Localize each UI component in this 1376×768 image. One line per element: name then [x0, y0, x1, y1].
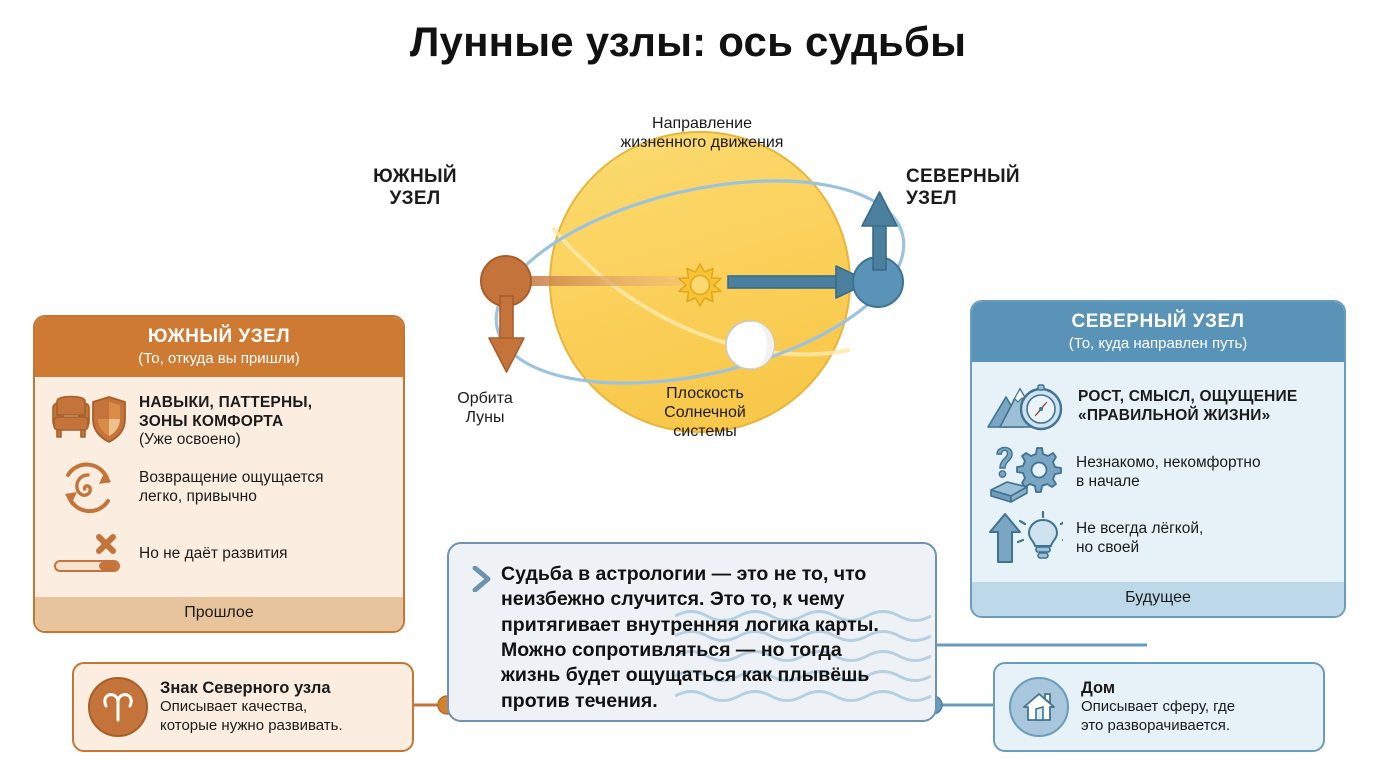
- sign-card-text: Знак Северного узла Описывает качества, …: [160, 679, 398, 736]
- north-node-caption-line2: УЗЕЛ: [906, 188, 1036, 210]
- south-panel-subtitle: (То, откуда вы пришли): [45, 350, 393, 367]
- north-panel-title: СЕВЕРНЫЙ УЗЕЛ: [982, 311, 1334, 333]
- north-row-3-line2: но своей: [1076, 539, 1330, 558]
- north-panel-subtitle: (То, куда направлен путь): [982, 335, 1334, 352]
- moon-orbit-line1: Орбита: [430, 390, 540, 409]
- chevron-right-icon: [471, 566, 493, 592]
- south-panel-row-2: Возвращение ощущается легко, привычно: [49, 455, 389, 521]
- north-row-1-strong-line1: РОСТ, СМЫСЛ, ОЩУЩЕНИЕ: [1078, 388, 1330, 407]
- quote-text: Судьба в астрологии — это не то, что неи…: [501, 562, 901, 714]
- north-panel-row-1: РОСТ, СМЫСЛ, ОЩУЩЕНИЕ «ПРАВИЛЬНОЙ ЖИЗНИ»: [986, 374, 1330, 440]
- lightbulb-icon: [1018, 512, 1063, 558]
- sign-card-desc-line2: которые нужно развивать.: [160, 717, 398, 735]
- node-axis-line: [508, 276, 688, 286]
- question-mark-icon: [997, 447, 1012, 477]
- north-node-caption: СЕВЕРНЫЙ УЗЕЛ: [906, 166, 1036, 211]
- up-arrow-icon: [990, 514, 1020, 562]
- north-node-sign-card: Знак Северного узла Описывает качества, …: [72, 662, 414, 752]
- solar-plane-line3: системы: [630, 423, 780, 442]
- north-panel-footer: Будущее: [972, 582, 1344, 616]
- south-row-1-sub: (Уже освоено): [139, 431, 389, 450]
- arrow-lightbulb-icon: [986, 507, 1064, 571]
- south-row-1-strong-line2: ЗОНЫ КОМФОРТА: [139, 413, 389, 432]
- armchair-icon: [53, 397, 89, 438]
- north-row-1-text: РОСТ, СМЫСЛ, ОЩУЩЕНИЕ «ПРАВИЛЬНОЙ ЖИЗНИ»: [1078, 388, 1330, 426]
- north-row-2-line2: в начале: [1076, 473, 1330, 492]
- box-icon: [991, 482, 1027, 502]
- moon-icon: [726, 321, 774, 369]
- infographic-canvas: Лунные узлы: ось судьбы: [0, 0, 1376, 768]
- compass-icon: [1021, 385, 1061, 429]
- moon-orbit-caption: Орбита Луны: [430, 390, 540, 428]
- north-node-caption-line1: СЕВЕРНЫЙ: [906, 166, 1036, 188]
- north-panel-row-3: Не всегда лёгкой, но своей: [986, 506, 1330, 572]
- north-node-up-arrow: [862, 192, 897, 270]
- south-node-down-arrow: [489, 296, 524, 372]
- progress-bar-fill: [99, 562, 118, 570]
- north-node-panel: СЕВЕРНЫЙ УЗЕЛ (То, куда направлен путь): [970, 300, 1346, 618]
- south-row-1-text: НАВЫКИ, ПАТТЕРНЫ, ЗОНЫ КОМФОРТА (Уже осв…: [139, 394, 389, 451]
- south-node-caption-line1: ЮЖНЫЙ: [360, 166, 470, 188]
- page-title: Лунные узлы: ось судьбы: [0, 18, 1376, 66]
- house-card-title: Дом: [1081, 679, 1309, 698]
- house-card-desc-line1: Описывает сферу, где: [1081, 698, 1309, 716]
- south-node-caption: ЮЖНЫЙ УЗЕЛ: [360, 166, 470, 211]
- house-card: Дом Описывает сферу, где это разворачива…: [993, 662, 1325, 752]
- solar-system-diagram: ЮЖНЫЙ УЗЕЛ СЕВЕРНЫЙ УЗЕЛ Направление жиз…: [370, 100, 1030, 460]
- solar-plane-line1: Плоскость: [630, 385, 780, 404]
- cross-icon: [99, 537, 113, 551]
- house-card-desc-line2: это разворачивается.: [1081, 717, 1309, 735]
- north-panel-header: СЕВЕРНЫЙ УЗЕЛ (То, куда направлен путь): [972, 302, 1344, 362]
- south-panel-body: НАВЫКИ, ПАТТЕРНЫ, ЗОНЫ КОМФОРТА (Уже осв…: [35, 377, 403, 597]
- south-node-caption-line2: УЗЕЛ: [360, 188, 470, 210]
- north-panel-body: РОСТ, СМЫСЛ, ОЩУЩЕНИЕ «ПРАВИЛЬНОЙ ЖИЗНИ»: [972, 362, 1344, 582]
- life-direction-line2: жизненного движения: [582, 134, 822, 153]
- south-row-3-text: Но не даёт развития: [139, 545, 389, 564]
- south-row-1-strong-line1: НАВЫКИ, ПАТТЕРНЫ,: [139, 394, 389, 413]
- progress-blocked-icon: [49, 522, 127, 586]
- north-row-2-line1: Незнакомо, некомфортно: [1076, 454, 1330, 473]
- shield-icon: [93, 397, 125, 442]
- life-direction-caption: Направление жизненного движения: [582, 115, 822, 153]
- north-row-3-line1: Не всегда лёгкой,: [1076, 520, 1330, 539]
- south-panel-row-3: Но не даёт развития: [49, 521, 389, 587]
- south-panel-header: ЮЖНЫЙ УЗЕЛ (То, откуда вы пришли): [35, 317, 403, 377]
- south-row-2-line2: легко, привычно: [139, 488, 389, 507]
- house-icon: [1009, 677, 1069, 737]
- south-panel-row-1: НАВЫКИ, ПАТТЕРНЫ, ЗОНЫ КОМФОРТА (Уже осв…: [49, 389, 389, 455]
- north-row-3-text: Не всегда лёгкой, но своей: [1076, 520, 1330, 558]
- spiral-cycle-icon: [49, 456, 127, 520]
- north-panel-row-2: Незнакомо, некомфортно в начале: [986, 440, 1330, 506]
- south-panel-title: ЮЖНЫЙ УЗЕЛ: [45, 326, 393, 348]
- south-row-2-text: Возвращение ощущается легко, привычно: [139, 469, 389, 507]
- armchair-shield-icon: [49, 390, 127, 454]
- north-row-1-strong-line2: «ПРАВИЛЬНОЙ ЖИЗНИ»: [1078, 407, 1330, 426]
- solar-plane-line2: Солнечной: [630, 404, 780, 423]
- question-gear-box-icon: [986, 441, 1064, 505]
- south-panel-footer: Прошлое: [35, 597, 403, 631]
- life-direction-line1: Направление: [582, 115, 822, 134]
- sign-card-desc-line1: Описывает качества,: [160, 698, 398, 716]
- north-row-2-text: Незнакомо, некомфортно в начале: [1076, 454, 1330, 492]
- quote-box: Судьба в астрологии — это не то, что неи…: [447, 542, 937, 722]
- south-row-3-line1: Но не даёт развития: [139, 545, 389, 564]
- solar-plane-caption: Плоскость Солнечной системы: [630, 385, 780, 442]
- south-row-2-line1: Возвращение ощущается: [139, 469, 389, 488]
- house-card-text: Дом Описывает сферу, где это разворачива…: [1081, 679, 1309, 736]
- south-node-panel: ЮЖНЫЙ УЗЕЛ (То, откуда вы пришли): [33, 315, 405, 633]
- mountain-compass-icon: [986, 375, 1066, 439]
- aries-zodiac-icon: [88, 677, 148, 737]
- sign-card-title: Знак Северного узла: [160, 679, 398, 698]
- moon-orbit-line2: Луны: [430, 409, 540, 428]
